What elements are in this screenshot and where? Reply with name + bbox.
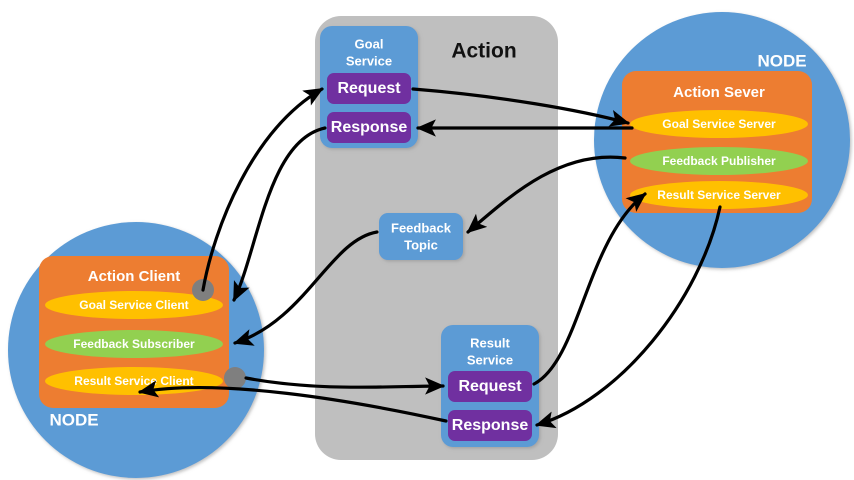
action-server-node[interactable]: NODE Action Sever Goal Service Server Fe… bbox=[594, 12, 850, 268]
action-server-label: Action Sever bbox=[673, 84, 765, 101]
result-service-client-label: Result Service Client bbox=[74, 374, 193, 388]
result-service-title-line1: Result bbox=[470, 335, 510, 350]
result-response-label: Response bbox=[452, 417, 529, 434]
result-client-connector-dot bbox=[224, 367, 246, 389]
goal-service-client-label: Goal Service Client bbox=[79, 298, 188, 312]
feedback-subscriber-label: Feedback Subscriber bbox=[73, 337, 195, 351]
goal-request-label: Request bbox=[337, 80, 401, 97]
endpoint-feedback-publisher[interactable]: Feedback Publisher bbox=[630, 147, 808, 175]
feedback-publisher-label: Feedback Publisher bbox=[662, 154, 776, 168]
server-node-label: NODE bbox=[757, 51, 806, 70]
goal-service-title-line1: Goal bbox=[355, 36, 384, 51]
result-service-server-label: Result Service Server bbox=[657, 188, 781, 202]
goal-service-title-line2: Service bbox=[346, 53, 392, 68]
action-client-node[interactable]: NODE Action Client Goal Service Client F… bbox=[8, 222, 264, 478]
endpoint-result-service-server[interactable]: Result Service Server bbox=[630, 181, 808, 209]
goal-service-server-label: Goal Service Server bbox=[662, 117, 776, 131]
goal-response-label: Response bbox=[331, 119, 408, 136]
action-client-label: Action Client bbox=[88, 268, 181, 285]
client-node-label: NODE bbox=[49, 410, 98, 429]
feedback-topic-box[interactable]: Feedback Topic bbox=[379, 213, 463, 260]
endpoint-feedback-subscriber[interactable]: Feedback Subscriber bbox=[45, 330, 223, 358]
goal-service-box[interactable]: Goal Service Request Response bbox=[320, 26, 418, 148]
arrow-goal-response-to-client bbox=[234, 128, 325, 300]
result-service-title-line2: Service bbox=[467, 352, 513, 367]
feedback-topic-title-line2: Topic bbox=[404, 237, 438, 252]
action-panel-title: Action bbox=[451, 40, 516, 63]
endpoint-result-service-client[interactable]: Result Service Client bbox=[45, 367, 223, 395]
diagram-canvas: Action NODE Action Client Goal Service C… bbox=[0, 0, 854, 480]
result-service-box[interactable]: Result Service Request Response bbox=[441, 325, 539, 447]
ros-action-architecture-diagram: Action NODE Action Client Goal Service C… bbox=[0, 0, 854, 480]
feedback-topic-title-line1: Feedback bbox=[391, 220, 452, 235]
endpoint-goal-service-server[interactable]: Goal Service Server bbox=[630, 110, 808, 138]
result-request-label: Request bbox=[458, 378, 522, 395]
